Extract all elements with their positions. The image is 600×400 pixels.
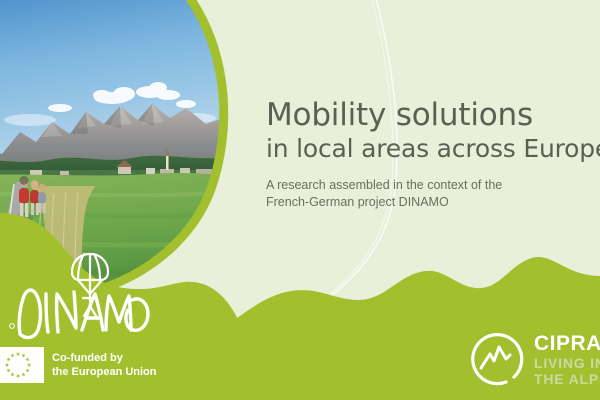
cipra-logo-block: CIPRA LIVING IN THE ALPS xyxy=(466,330,600,388)
cipra-tagline-line-1: LIVING IN xyxy=(534,355,600,371)
cipra-mountain-circle-icon xyxy=(466,330,524,388)
eu-funding-line-1: Co-funded by xyxy=(52,351,157,365)
page-subtitle-line-1: A research assembled in the context of t… xyxy=(266,177,596,194)
page-subtitle: A research assembled in the context of t… xyxy=(266,177,596,211)
eu-funding-text: Co-funded by the European Union xyxy=(52,351,157,379)
cipra-name: CIPRA xyxy=(534,333,600,355)
eu-flag-icon xyxy=(0,347,44,383)
poster-canvas: Mobility solutions in local areas across… xyxy=(0,0,600,400)
title-block: Mobility solutions in local areas across… xyxy=(266,97,596,211)
eu-funding-line-2: the European Union xyxy=(52,365,157,379)
page-title-line-1: Mobility solutions xyxy=(266,97,596,133)
cipra-wordmark: CIPRA LIVING IN THE ALPS xyxy=(534,331,600,387)
eu-funding-block: Co-funded by the European Union xyxy=(0,347,157,383)
dinamo-logo xyxy=(2,248,162,343)
page-subtitle-line-2: French-German project DINAMO xyxy=(266,194,596,211)
page-title-line-2: in local areas across Europe xyxy=(266,133,596,164)
cipra-tagline-line-2: THE ALPS xyxy=(534,371,600,387)
